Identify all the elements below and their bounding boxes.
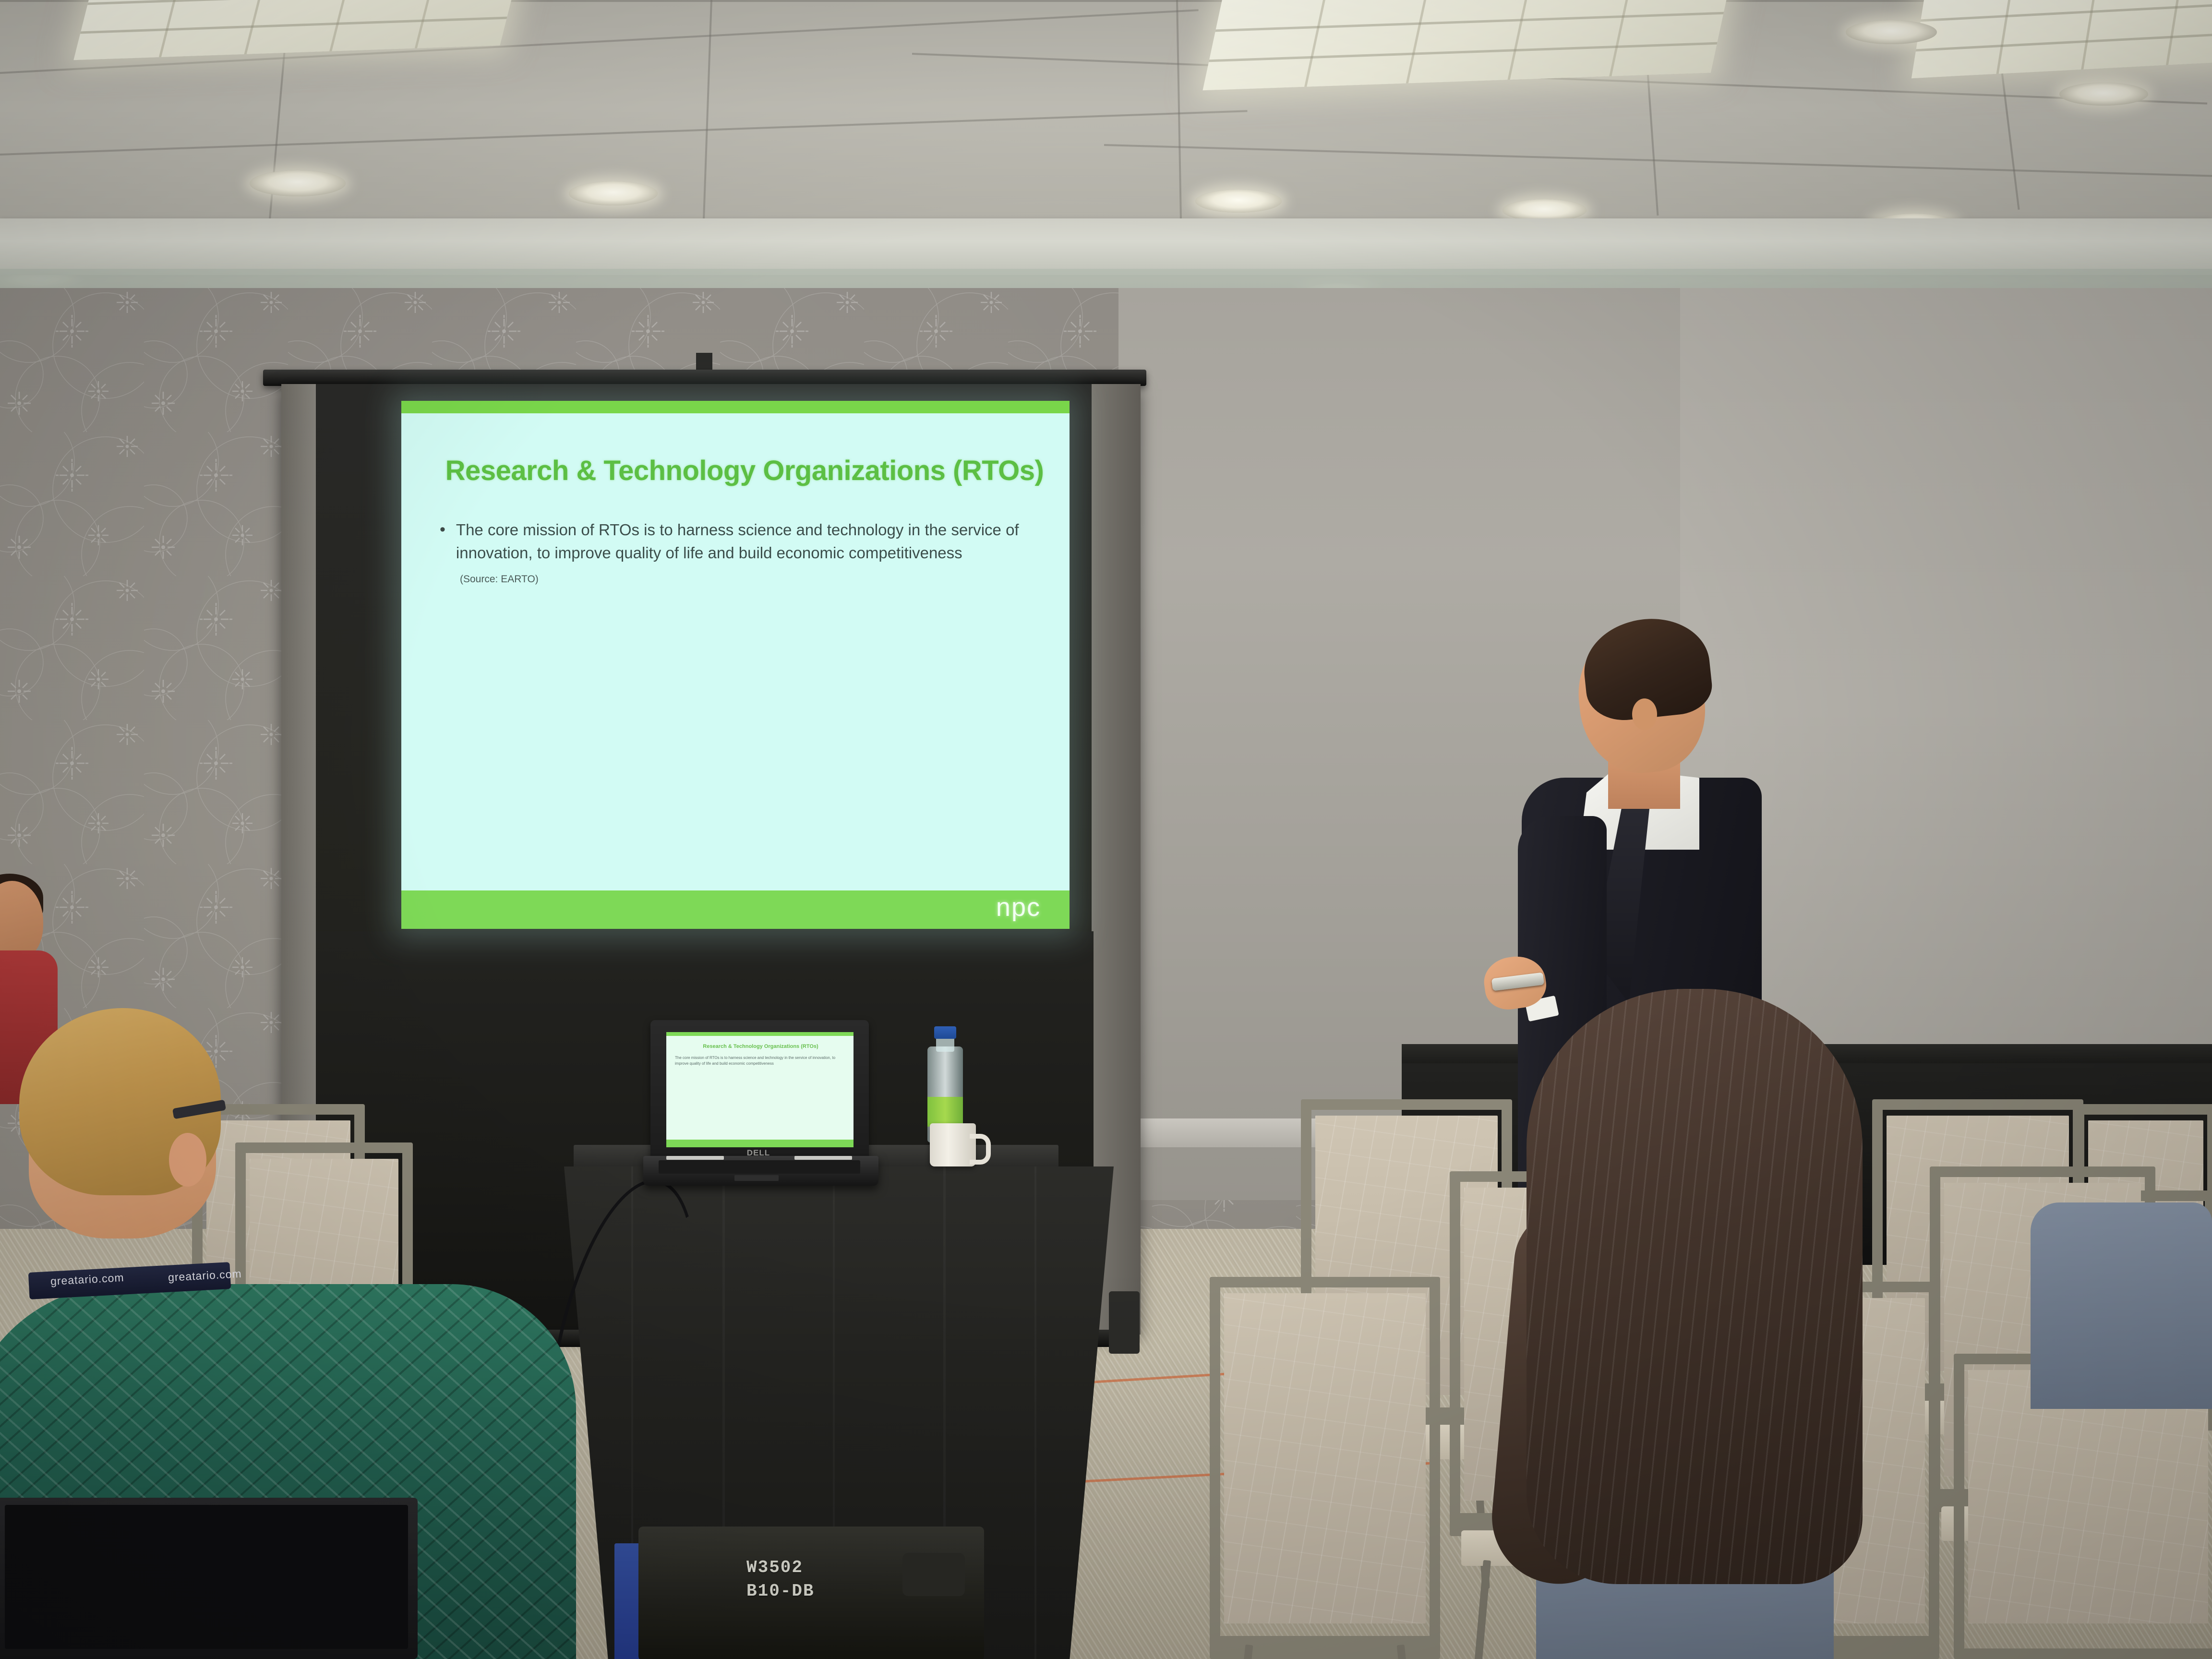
- slide-title: Research & Technology Organizations (RTO…: [435, 455, 1054, 487]
- recessed-can-light: [569, 181, 658, 205]
- screen-top-casing: [263, 370, 1146, 386]
- slide-source-note: (Source: EARTO): [460, 574, 539, 585]
- monitor-back-panel: [5, 1505, 408, 1649]
- ceiling: [0, 0, 2212, 307]
- laptop-slide-body: The core mission of RTOs is to harness s…: [675, 1055, 845, 1067]
- case-label-line-1: W3502: [746, 1556, 815, 1580]
- laptop-slide-title: Research & Technology Organizations (RTO…: [678, 1044, 843, 1049]
- laptop-hinge-left: [666, 1156, 724, 1160]
- water-bottle-label: [927, 1097, 963, 1127]
- water-bottle-cap[interactable]: [934, 1026, 956, 1039]
- bullet-marker: •: [440, 521, 445, 538]
- attendee-far-right: [2031, 1202, 2212, 1409]
- laptop-keyboard[interactable]: [659, 1160, 860, 1174]
- recessed-can-light: [250, 170, 346, 196]
- attendee-right-hair-sheen: [1527, 989, 1863, 1584]
- case-label-line-2: B10-DB: [746, 1580, 815, 1603]
- presenter-ear: [1632, 698, 1657, 730]
- ceiling-troffer-light-right: [1911, 0, 2212, 78]
- ceiling-troffer-light-left: [73, 0, 522, 60]
- recessed-can-light: [2059, 83, 2148, 106]
- slide-top-accent-bar: [401, 401, 1070, 413]
- company-logo: npc: [996, 892, 1041, 922]
- coffee-mug[interactable]: [930, 1123, 976, 1166]
- slide-bullet-item: • The core mission of RTOs is to harness…: [440, 518, 1035, 565]
- projected-slide: Research & Technology Organizations (RTO…: [401, 401, 1070, 929]
- slide-bullet-text: The core mission of RTOs is to harness s…: [456, 518, 1035, 565]
- recessed-can-light: [1195, 190, 1282, 213]
- conference-room-scene: Research & Technology Organizations (RTO…: [0, 0, 2212, 1659]
- equipment-case-handle[interactable]: [902, 1553, 965, 1596]
- ceiling-troffer-light-center: [1202, 0, 1730, 90]
- screen-stand-foot: [1109, 1291, 1140, 1354]
- coffee-mug-handle: [970, 1134, 991, 1165]
- chair[interactable]: [1210, 1277, 1440, 1659]
- equipment-case-label: W3502 B10-DB: [746, 1556, 815, 1603]
- laptop-touchpad[interactable]: [734, 1175, 779, 1181]
- recessed-can-light: [1846, 20, 1937, 44]
- laptop-hinge-right: [794, 1156, 852, 1160]
- slide-footer-bar: [401, 890, 1070, 929]
- laptop-screen: Research & Technology Organizations (RTO…: [666, 1032, 854, 1147]
- attendee-front-ear: [169, 1133, 206, 1187]
